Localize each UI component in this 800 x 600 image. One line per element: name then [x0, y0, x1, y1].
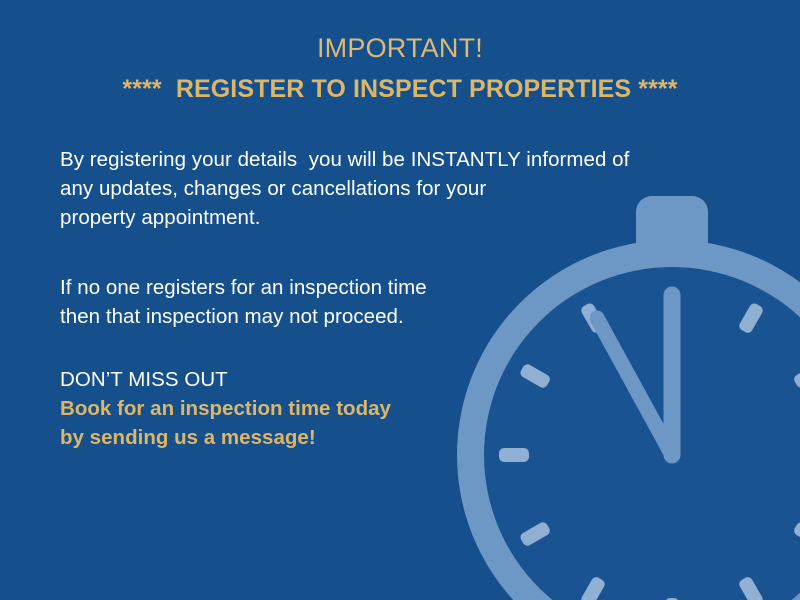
cta-line-dont-miss-out: DON’T MISS OUT: [60, 365, 720, 394]
heading-block: IMPORTANT! **** REGISTER TO INSPECT PROP…: [0, 32, 800, 105]
cta-line-book-inspection: Book for an inspection time today: [60, 394, 720, 423]
paragraph-2-line-1: If no one registers for an inspection ti…: [60, 273, 720, 302]
paragraph-registering-details: By registering your details you will be …: [60, 145, 720, 232]
paragraph-2-line-2: then that inspection may not proceed.: [60, 302, 720, 331]
heading-line-important: IMPORTANT!: [0, 32, 800, 66]
call-to-action-block: DON’T MISS OUT Book for an inspection ti…: [60, 365, 720, 452]
paragraph-no-registration-warning: If no one registers for an inspection ti…: [60, 273, 720, 331]
heading-line-register: **** REGISTER TO INSPECT PROPERTIES ****: [0, 74, 800, 105]
promotional-slide: IMPORTANT! **** REGISTER TO INSPECT PROP…: [0, 0, 800, 600]
paragraph-1-line-2: any updates, changes or cancellations fo…: [60, 174, 720, 203]
cta-line-send-message: by sending us a message!: [60, 423, 720, 452]
paragraph-1-line-3: property appointment.: [60, 203, 720, 232]
paragraph-1-line-1: By registering your details you will be …: [60, 145, 720, 174]
